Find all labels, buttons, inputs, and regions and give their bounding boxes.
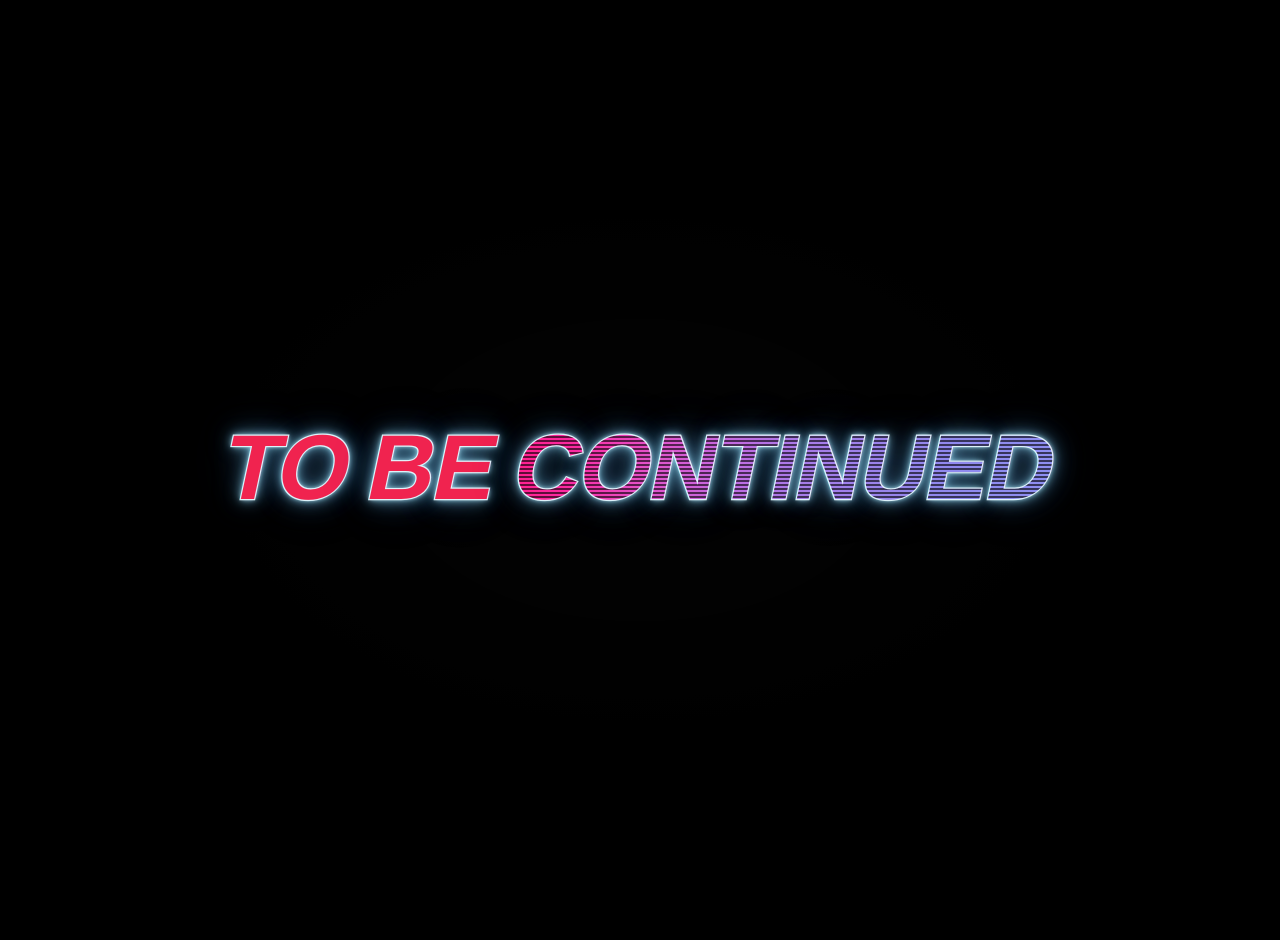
title-word-continued-scanlines: CONTINUED (506, 422, 1063, 514)
title-text-block: TO TO TO TO TO TO BE BE BE BE BE BE CONT… (0, 418, 1280, 518)
title-word-to-fill: TO (216, 422, 360, 514)
title-card-screen: TO TO TO TO TO TO BE BE BE BE BE BE CONT… (0, 0, 1280, 940)
title-word-be-fill: BE (360, 422, 505, 514)
title-word-be: BE BE BE BE BE BE (360, 422, 505, 514)
title-word-continued: CONTINUED CONTINUED CONTINUED CONTINUED … (506, 422, 1063, 514)
title-word-to: TO TO TO TO TO TO (216, 422, 360, 514)
